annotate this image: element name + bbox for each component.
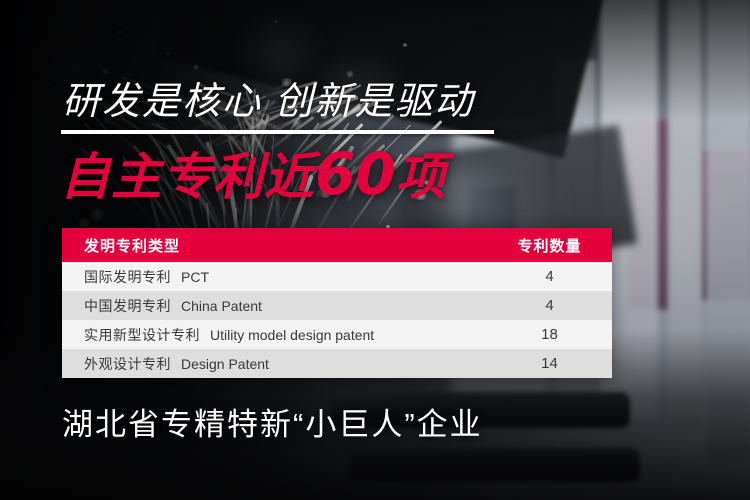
table-row: 实用新型设计专利Utility model design patent 18 (62, 320, 612, 349)
poster-caption: 湖北省专精特新“小巨人”企业 (62, 405, 483, 445)
patent-type-cn: 国际发明专利 (84, 269, 171, 285)
column-header-count: 专利数量 (487, 235, 612, 256)
cell-patent-count: 14 (487, 355, 612, 372)
patent-type-en: PCT (181, 269, 209, 285)
patent-type-en: Design Patent (181, 356, 269, 372)
cell-patent-type: 实用新型设计专利Utility model design patent (62, 325, 487, 345)
table-row: 外观设计专利Design Patent 14 (62, 349, 612, 378)
patent-poster: 研发是核心 创新是驱动 自主专利近60项 发明专利类型 专利数量 国际发明专利P… (0, 0, 750, 500)
headline-divider (61, 130, 494, 134)
patent-type-cn: 外观设计专利 (84, 356, 171, 372)
poster-content: 研发是核心 创新是驱动 自主专利近60项 发明专利类型 专利数量 国际发明专利P… (0, 0, 750, 500)
headline-primary: 研发是核心 创新是驱动 (62, 80, 475, 124)
cell-patent-count: 18 (487, 326, 612, 343)
table-header-row: 发明专利类型 专利数量 (62, 228, 612, 262)
patent-type-cn: 中国发明专利 (84, 298, 171, 314)
cell-patent-count: 4 (487, 268, 612, 285)
headline-secondary-suffix: 项 (396, 149, 447, 205)
table-row: 中国发明专利China Patent 4 (62, 291, 612, 320)
patent-table: 发明专利类型 专利数量 国际发明专利PCT 4 中国发明专利China Pate… (62, 228, 612, 378)
patent-count-number: 60 (315, 140, 396, 208)
column-header-type: 发明专利类型 (62, 235, 487, 256)
cell-patent-type: 国际发明专利PCT (62, 267, 487, 287)
cell-patent-count: 4 (487, 297, 612, 314)
cell-patent-type: 中国发明专利China Patent (62, 296, 487, 316)
cell-patent-type: 外观设计专利Design Patent (62, 354, 487, 374)
patent-type-en: China Patent (181, 298, 262, 314)
patent-type-en: Utility model design patent (210, 327, 374, 343)
headline-secondary-prefix: 自主专利近 (60, 149, 315, 205)
table-row: 国际发明专利PCT 4 (62, 262, 612, 291)
headline-secondary: 自主专利近60项 (60, 146, 447, 205)
patent-type-cn: 实用新型设计专利 (84, 327, 200, 343)
